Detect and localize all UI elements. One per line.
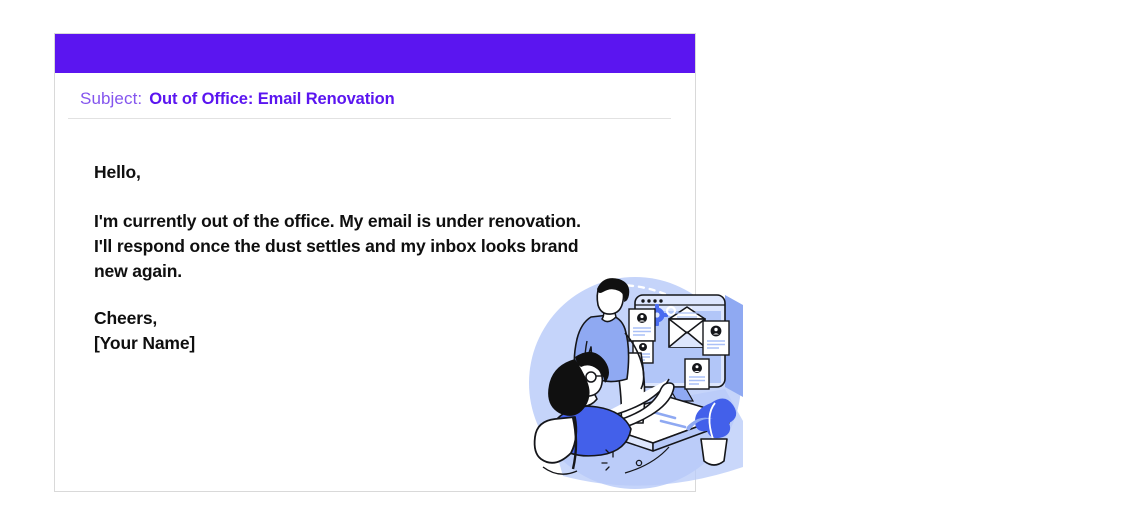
message-body: Hello, I'm currently out of the office. … <box>94 160 664 356</box>
subject-row: Subject: Out of Office: Email Renovation <box>55 89 695 109</box>
message-signature: [Your Name] <box>94 331 664 356</box>
contact-card-3 <box>703 321 729 355</box>
message-paragraph-line-3: new again. <box>94 259 664 284</box>
message-signoff: Cheers, <box>94 306 664 331</box>
message-paragraph-line-2: I'll respond once the dust settles and m… <box>94 234 664 259</box>
message-paragraph: I'm currently out of the office. My emai… <box>94 209 664 284</box>
spacer <box>94 284 664 306</box>
subject-label: Subject: <box>80 89 142 109</box>
message-greeting: Hello, <box>94 160 664 185</box>
spacer <box>94 185 664 209</box>
card-header-bar <box>55 34 695 73</box>
message-paragraph-line-1: I'm currently out of the office. My emai… <box>94 209 664 234</box>
subject-divider <box>68 118 671 119</box>
subject-value: Out of Office: Email Renovation <box>149 90 394 109</box>
email-card: Subject: Out of Office: Email Renovation… <box>54 33 696 492</box>
